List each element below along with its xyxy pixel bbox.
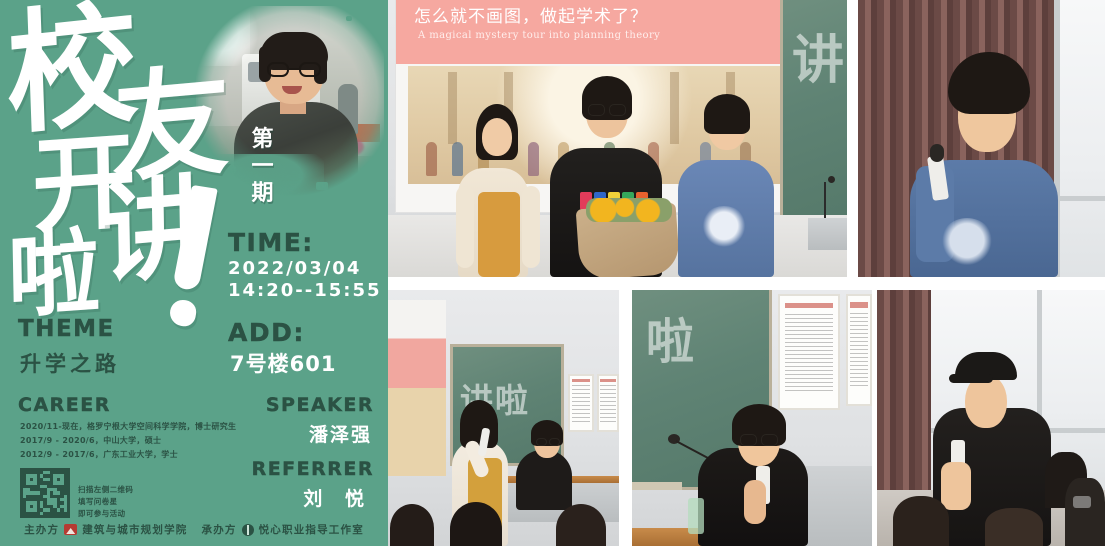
photo-group-with-flowers: 怎么就不画图，做起学术了？ A magical mystery tour int… (388, 0, 847, 277)
chalk-writing: 啦 (646, 302, 694, 372)
mic-stand (824, 182, 826, 220)
organizer-group: 主办方 建筑与城市规划学院 (24, 522, 187, 537)
projection-screen (388, 300, 446, 476)
speaker-label: SPEAKER (266, 394, 374, 416)
photo-grid: 怎么就不画图，做起学术了？ A magical mystery tour int… (388, 0, 1118, 546)
cap-brim (949, 374, 993, 383)
yuexin-logo-icon (242, 524, 254, 536)
issue-char-2: 一 (246, 153, 280, 180)
paint-speck (208, 24, 216, 30)
referrer-label: REFERRER (252, 458, 374, 480)
theme-label: THEME (18, 316, 115, 342)
poster-and-photo-collage: 校 友 开 讲 啦 第 一 期 TIME: 2022/03/04 14:20--… (0, 0, 1118, 546)
career-line: 2017/9 - 2020/6，中山大学，硕士 (20, 434, 290, 448)
photo-speaker-at-desk: 啦 (632, 290, 872, 546)
slide-subtitle: A magical mystery tour into planning the… (418, 30, 660, 41)
time-label: TIME: (228, 228, 314, 257)
paint-speck (316, 182, 328, 190)
photo-audience-question (877, 290, 1105, 546)
shirt-graphic (940, 218, 994, 268)
qr-instructions: 扫描左侧二维码 填写问卷星 即可参与活动 (78, 484, 133, 520)
chalk-writing: 讲 (792, 18, 844, 93)
audience-row (388, 498, 619, 546)
poster-footer: 主办方 建筑与城市规划学院 承办方 悦心职业指导工作室 (0, 522, 388, 537)
photo-student-asking-question (858, 0, 1105, 277)
window-mullion (1054, 196, 1105, 201)
qr-instruction-line: 即可参与活动 (78, 508, 133, 520)
career-line: 2012/9 - 2017/6，广东工业大学，学士 (20, 448, 290, 462)
career-line: 2020/11-现在，格罗宁根大学空间科学学院，博士研究生 (20, 420, 290, 434)
school-logo-icon (64, 524, 77, 535)
address-value: 7号楼601 (230, 348, 336, 378)
portrait-glasses (267, 62, 321, 77)
host-group: 承办方 悦心职业指导工作室 (202, 522, 364, 537)
podium (808, 218, 847, 250)
exclamation-mark-dot (168, 298, 198, 328)
host-label: 承办方 (202, 522, 237, 537)
event-time: 14:20--15:55 (228, 280, 382, 301)
wall-notice (568, 374, 594, 432)
organizer-label: 主办方 (24, 522, 59, 537)
qr-code-modules (23, 471, 67, 515)
issue-char-3: 期 (246, 180, 280, 207)
wall-notice (597, 374, 619, 432)
event-date: 2022/03/04 (228, 258, 361, 279)
slide-title: 怎么就不画图，做起学术了？ (414, 2, 648, 27)
mic-head-icon (930, 144, 944, 162)
organizer-name: 建筑与城市规划学院 (82, 522, 187, 537)
theme-value: 升学之路 (20, 348, 120, 378)
career-label: CAREER (18, 394, 111, 416)
event-poster: 校 友 开 讲 啦 第 一 期 TIME: 2022/03/04 14:20--… (0, 0, 388, 546)
address-label: ADD: (228, 318, 305, 347)
speaker-name: 潘泽强 (309, 420, 372, 447)
headline-char-5: 啦 (7, 225, 100, 324)
referrer-name: 刘 悦 (303, 484, 372, 511)
career-list: 2020/11-现在，格罗宁根大学空间科学学院，博士研究生 2017/9 - 2… (20, 420, 290, 462)
slide-title-band: 怎么就不画图，做起学术了？ A magical mystery tour int… (396, 0, 814, 64)
issue-char-1: 第 (246, 126, 280, 153)
issue-number: 第 一 期 (246, 126, 280, 206)
water-bottle (688, 498, 704, 534)
paint-speck (346, 16, 352, 21)
qr-code[interactable] (20, 468, 70, 518)
photo-host-introducing: 讲啦 (388, 290, 619, 546)
window (1054, 0, 1105, 277)
host-name: 悦心职业指导工作室 (259, 522, 364, 537)
wall-notice (778, 294, 840, 410)
mic-head-icon (828, 176, 835, 183)
qr-instruction-line: 填写问卷星 (78, 496, 133, 508)
qr-instruction-line: 扫描左侧二维码 (78, 484, 133, 496)
wall-notice (846, 294, 872, 406)
chalk-tray (632, 482, 682, 490)
